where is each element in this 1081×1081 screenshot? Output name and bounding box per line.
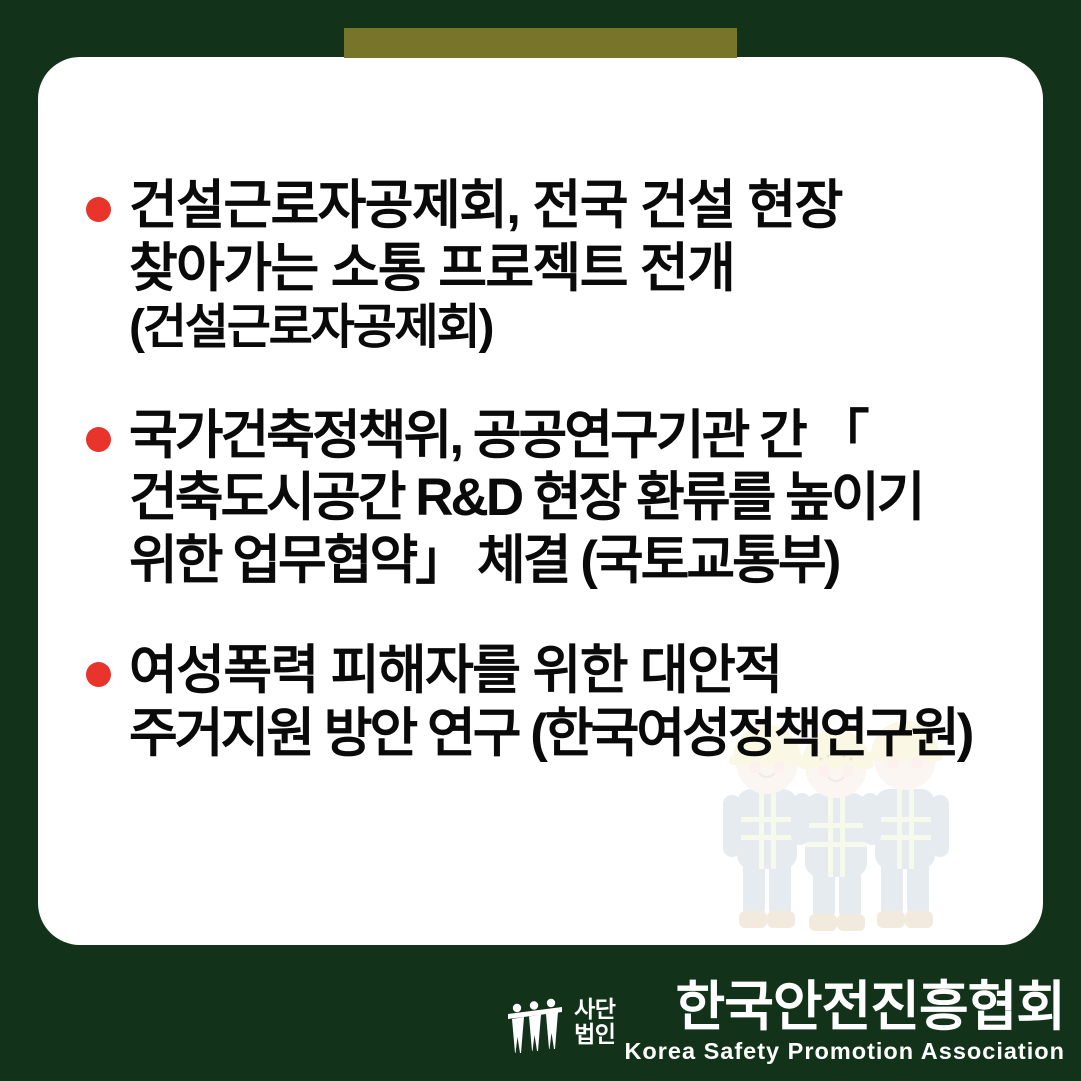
bullet-dot-icon [86, 197, 111, 222]
bullet-line: 국가건축정책위, 공공연구기관 간 「 [129, 405, 1015, 468]
bullet-dot-icon [86, 427, 111, 452]
bullet-line: 건설근로자공제회, 전국 건설 현장 [129, 175, 1015, 238]
content-card: 건설근로자공제회, 전국 건설 현장 찾아가는 소통 프로젝트 전개 (건설근로… [38, 57, 1043, 945]
bullet-line: 여성폭력 피해자를 위한 대안적 [129, 640, 1015, 703]
bullet-text-block: 국가건축정책위, 공공연구기관 간 「 건축도시공간 R&D 현장 환류를 높이… [129, 405, 1015, 593]
list-item: 국가건축정책위, 공공연구기관 간 「 건축도시공간 R&D 현장 환류를 높이… [86, 405, 1015, 593]
bullet-line: 찾아가는 소통 프로젝트 전개 [129, 238, 1015, 301]
corp-line-2: 법인 [574, 1022, 615, 1048]
org-name-block: 한국안전진흥협회 Korea Safety Promotion Associat… [624, 980, 1065, 1065]
corp-line-1: 사단 [574, 997, 615, 1023]
list-item: 건설근로자공제회, 전국 건설 현장 찾아가는 소통 프로젝트 전개 (건설근로… [86, 175, 1015, 357]
three-people-logo-icon [504, 997, 566, 1059]
list-item: 여성폭력 피해자를 위한 대안적 주거지원 방안 연구 (한국여성정책연구원) [86, 640, 1015, 765]
bullet-line: 주거지원 방안 연구 (한국여성정책연구원) [129, 703, 1015, 766]
corp-type-label: 사단 법인 [574, 997, 615, 1049]
bullet-text-block: 건설근로자공제회, 전국 건설 현장 찾아가는 소통 프로젝트 전개 (건설근로… [129, 175, 1015, 357]
bullet-list: 건설근로자공제회, 전국 건설 현장 찾아가는 소통 프로젝트 전개 (건설근로… [38, 57, 1043, 813]
bullet-line: 건축도시공간 R&D 현장 환류를 높이기 [129, 467, 1015, 530]
org-name-korean: 한국안전진흥협회 [676, 980, 1065, 1035]
footer-logo: 사단 법인 한국안전진흥협회 Korea Safety Promotion As… [504, 980, 1065, 1065]
org-name-english: Korea Safety Promotion Association [624, 1037, 1065, 1065]
poster-canvas: 건설근로자공제회, 전국 건설 현장 찾아가는 소통 프로젝트 전개 (건설근로… [0, 0, 1081, 1081]
bullet-source-line: (건설근로자공제회) [129, 300, 1015, 357]
bullet-line: 위한 업무협약」 체결 (국토교통부) [129, 530, 1015, 593]
top-tab-olive-overlap [344, 28, 737, 58]
bullet-text-block: 여성폭력 피해자를 위한 대안적 주거지원 방안 연구 (한국여성정책연구원) [129, 640, 1015, 765]
bullet-dot-icon [86, 662, 111, 687]
